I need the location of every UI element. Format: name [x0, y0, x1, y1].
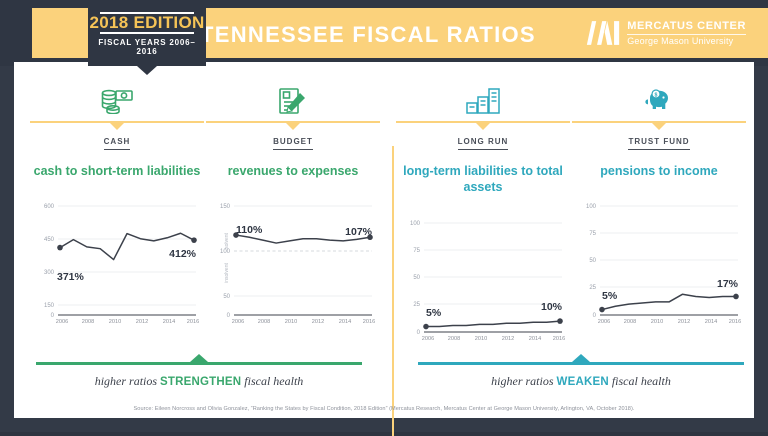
svg-text:25: 25: [413, 302, 420, 308]
svg-text:0: 0: [51, 313, 55, 319]
svg-text:0: 0: [593, 313, 597, 319]
svg-text:2014: 2014: [163, 319, 175, 325]
svg-text:2016: 2016: [553, 336, 565, 342]
logo-text: MERCATUS CENTER George Mason University: [627, 20, 746, 46]
svg-text:2006: 2006: [422, 336, 434, 342]
svg-text:0: 0: [417, 330, 421, 336]
svg-text:2012: 2012: [678, 319, 690, 325]
money-stack-icon: [30, 84, 204, 118]
infographic-page: 2018 EDITION FISCAL YEARS 2006–2016 TENN…: [0, 0, 768, 432]
svg-text:2010: 2010: [651, 319, 663, 325]
panel-subtitle-cash: cash to short-term liabilities: [30, 163, 204, 179]
panel-budget: BUDGET revenues to expenses 150100 500 s…: [206, 84, 380, 330]
budget-start-label: 110%: [236, 224, 263, 236]
svg-text:2008: 2008: [82, 319, 94, 325]
chart-cash: 600450 300150 0 371% 412% 2006: [30, 195, 204, 330]
long-run-end-label: 10%: [541, 301, 563, 313]
panel-rule: [206, 121, 380, 123]
panel-subtitle-trust-fund: pensions to income: [572, 163, 746, 179]
piggy-bank-icon: $: [572, 84, 746, 118]
badge-years-label: FISCAL YEARS 2006–2016: [88, 38, 206, 56]
svg-text:50: 50: [223, 294, 230, 300]
source-citation: Source: Eileen Norcross and Olivia Gonza…: [14, 406, 754, 412]
strengthen-suffix: fiscal health: [241, 374, 303, 388]
panel-long-run: LONG RUN long-term liabilities to total …: [396, 84, 570, 347]
panel-category-budget: BUDGET: [206, 137, 380, 146]
svg-text:25: 25: [589, 285, 596, 291]
weaken-caption: higher ratios WEAKEN fiscal health: [418, 374, 744, 389]
svg-text:2010: 2010: [109, 319, 121, 325]
svg-text:75: 75: [589, 231, 596, 237]
svg-text:2006: 2006: [232, 319, 244, 325]
document-pencil-icon: [206, 84, 380, 118]
panel-rule: [30, 121, 204, 123]
panel-rule: [572, 121, 746, 123]
svg-text:2008: 2008: [448, 336, 460, 342]
svg-text:450: 450: [44, 237, 55, 243]
svg-text:2016: 2016: [187, 319, 199, 325]
svg-text:0: 0: [227, 313, 231, 319]
svg-text:2012: 2012: [502, 336, 514, 342]
content-sheet: CASH cash to short-term liabilities 6004…: [14, 62, 754, 418]
svg-text:600: 600: [44, 204, 55, 210]
weaken-prefix: higher ratios: [491, 374, 556, 388]
strengthen-emphasis: STRENGTHEN: [160, 376, 241, 388]
svg-text:100: 100: [586, 204, 597, 210]
svg-text:300: 300: [44, 270, 55, 276]
mercatus-m-mark-icon: [586, 20, 620, 46]
trust-fund-start-label: 5%: [602, 290, 618, 302]
panel-cash: CASH cash to short-term liabilities 6004…: [30, 84, 204, 330]
panel-rule: [396, 121, 570, 123]
strengthen-arrow-icon: [190, 354, 208, 362]
panel-category-cash: CASH: [30, 137, 204, 146]
chart-long-run: 10075 50250 5% 10% 200620082010: [396, 212, 570, 347]
page-title: TENNESSEE FISCAL RATIOS: [200, 22, 536, 48]
trust-fund-end-label: 17%: [717, 278, 739, 290]
bar-buildings-icon: [396, 84, 570, 118]
svg-text:2008: 2008: [258, 319, 270, 325]
svg-text:2012: 2012: [312, 319, 324, 325]
panel-subtitle-long-run: long-term liabilities to total assets: [396, 163, 570, 196]
badge-edition-label: 2018 EDITION: [88, 13, 206, 33]
strengthen-caption: higher ratios STRENGTHEN fiscal health: [36, 374, 362, 389]
svg-text:150: 150: [44, 303, 55, 309]
svg-text:2014: 2014: [529, 336, 541, 342]
panel-subtitle-budget: revenues to expenses: [206, 163, 380, 179]
mercatus-logo: MERCATUS CENTER George Mason University: [586, 20, 746, 46]
svg-text:2008: 2008: [624, 319, 636, 325]
svg-text:2006: 2006: [598, 319, 610, 325]
edition-badge: 2018 EDITION FISCAL YEARS 2006–2016: [88, 0, 206, 66]
logo-subtitle: George Mason University: [627, 36, 746, 46]
chart-budget: 150100 500 solvent insolvent 110% 107%: [206, 195, 380, 330]
svg-text:2010: 2010: [475, 336, 487, 342]
logo-name: MERCATUS CENTER: [627, 20, 746, 35]
svg-text:2012: 2012: [136, 319, 148, 325]
strengthen-prefix: higher ratios: [95, 374, 160, 388]
insolvent-label: insolvent: [224, 263, 230, 283]
svg-text:2010: 2010: [285, 319, 297, 325]
svg-text:2014: 2014: [339, 319, 351, 325]
weaken-emphasis: WEAKEN: [557, 376, 609, 388]
svg-text:$: $: [655, 93, 658, 99]
panel-category-trust-fund: TRUST FUND: [572, 137, 746, 146]
svg-text:50: 50: [589, 258, 596, 264]
svg-text:100: 100: [410, 221, 421, 227]
center-divider: [392, 146, 394, 436]
strengthen-bar: [36, 362, 362, 365]
weaken-arrow-icon: [572, 354, 590, 362]
svg-text:2016: 2016: [363, 319, 375, 325]
panel-trust-fund: $ TRUST FUND pensions to income 10075 50…: [572, 84, 746, 330]
svg-text:50: 50: [413, 275, 420, 281]
weaken-bar: [418, 362, 744, 365]
header: 2018 EDITION FISCAL YEARS 2006–2016 TENN…: [0, 0, 768, 66]
chart-trust-fund: 10075 50250 5% 17% 200620082010: [572, 195, 746, 330]
panel-category-long-run: LONG RUN: [396, 137, 570, 146]
cash-start-label: 371%: [57, 271, 85, 283]
svg-text:2016: 2016: [729, 319, 741, 325]
cash-end-label: 412%: [169, 248, 197, 260]
budget-end-label: 107%: [345, 226, 373, 238]
svg-text:150: 150: [220, 204, 231, 210]
weaken-suffix: fiscal health: [609, 374, 671, 388]
long-run-start-label: 5%: [426, 307, 442, 319]
solvent-label: solvent: [224, 233, 230, 249]
svg-text:2006: 2006: [56, 319, 68, 325]
svg-text:2014: 2014: [705, 319, 717, 325]
svg-text:75: 75: [413, 248, 420, 254]
